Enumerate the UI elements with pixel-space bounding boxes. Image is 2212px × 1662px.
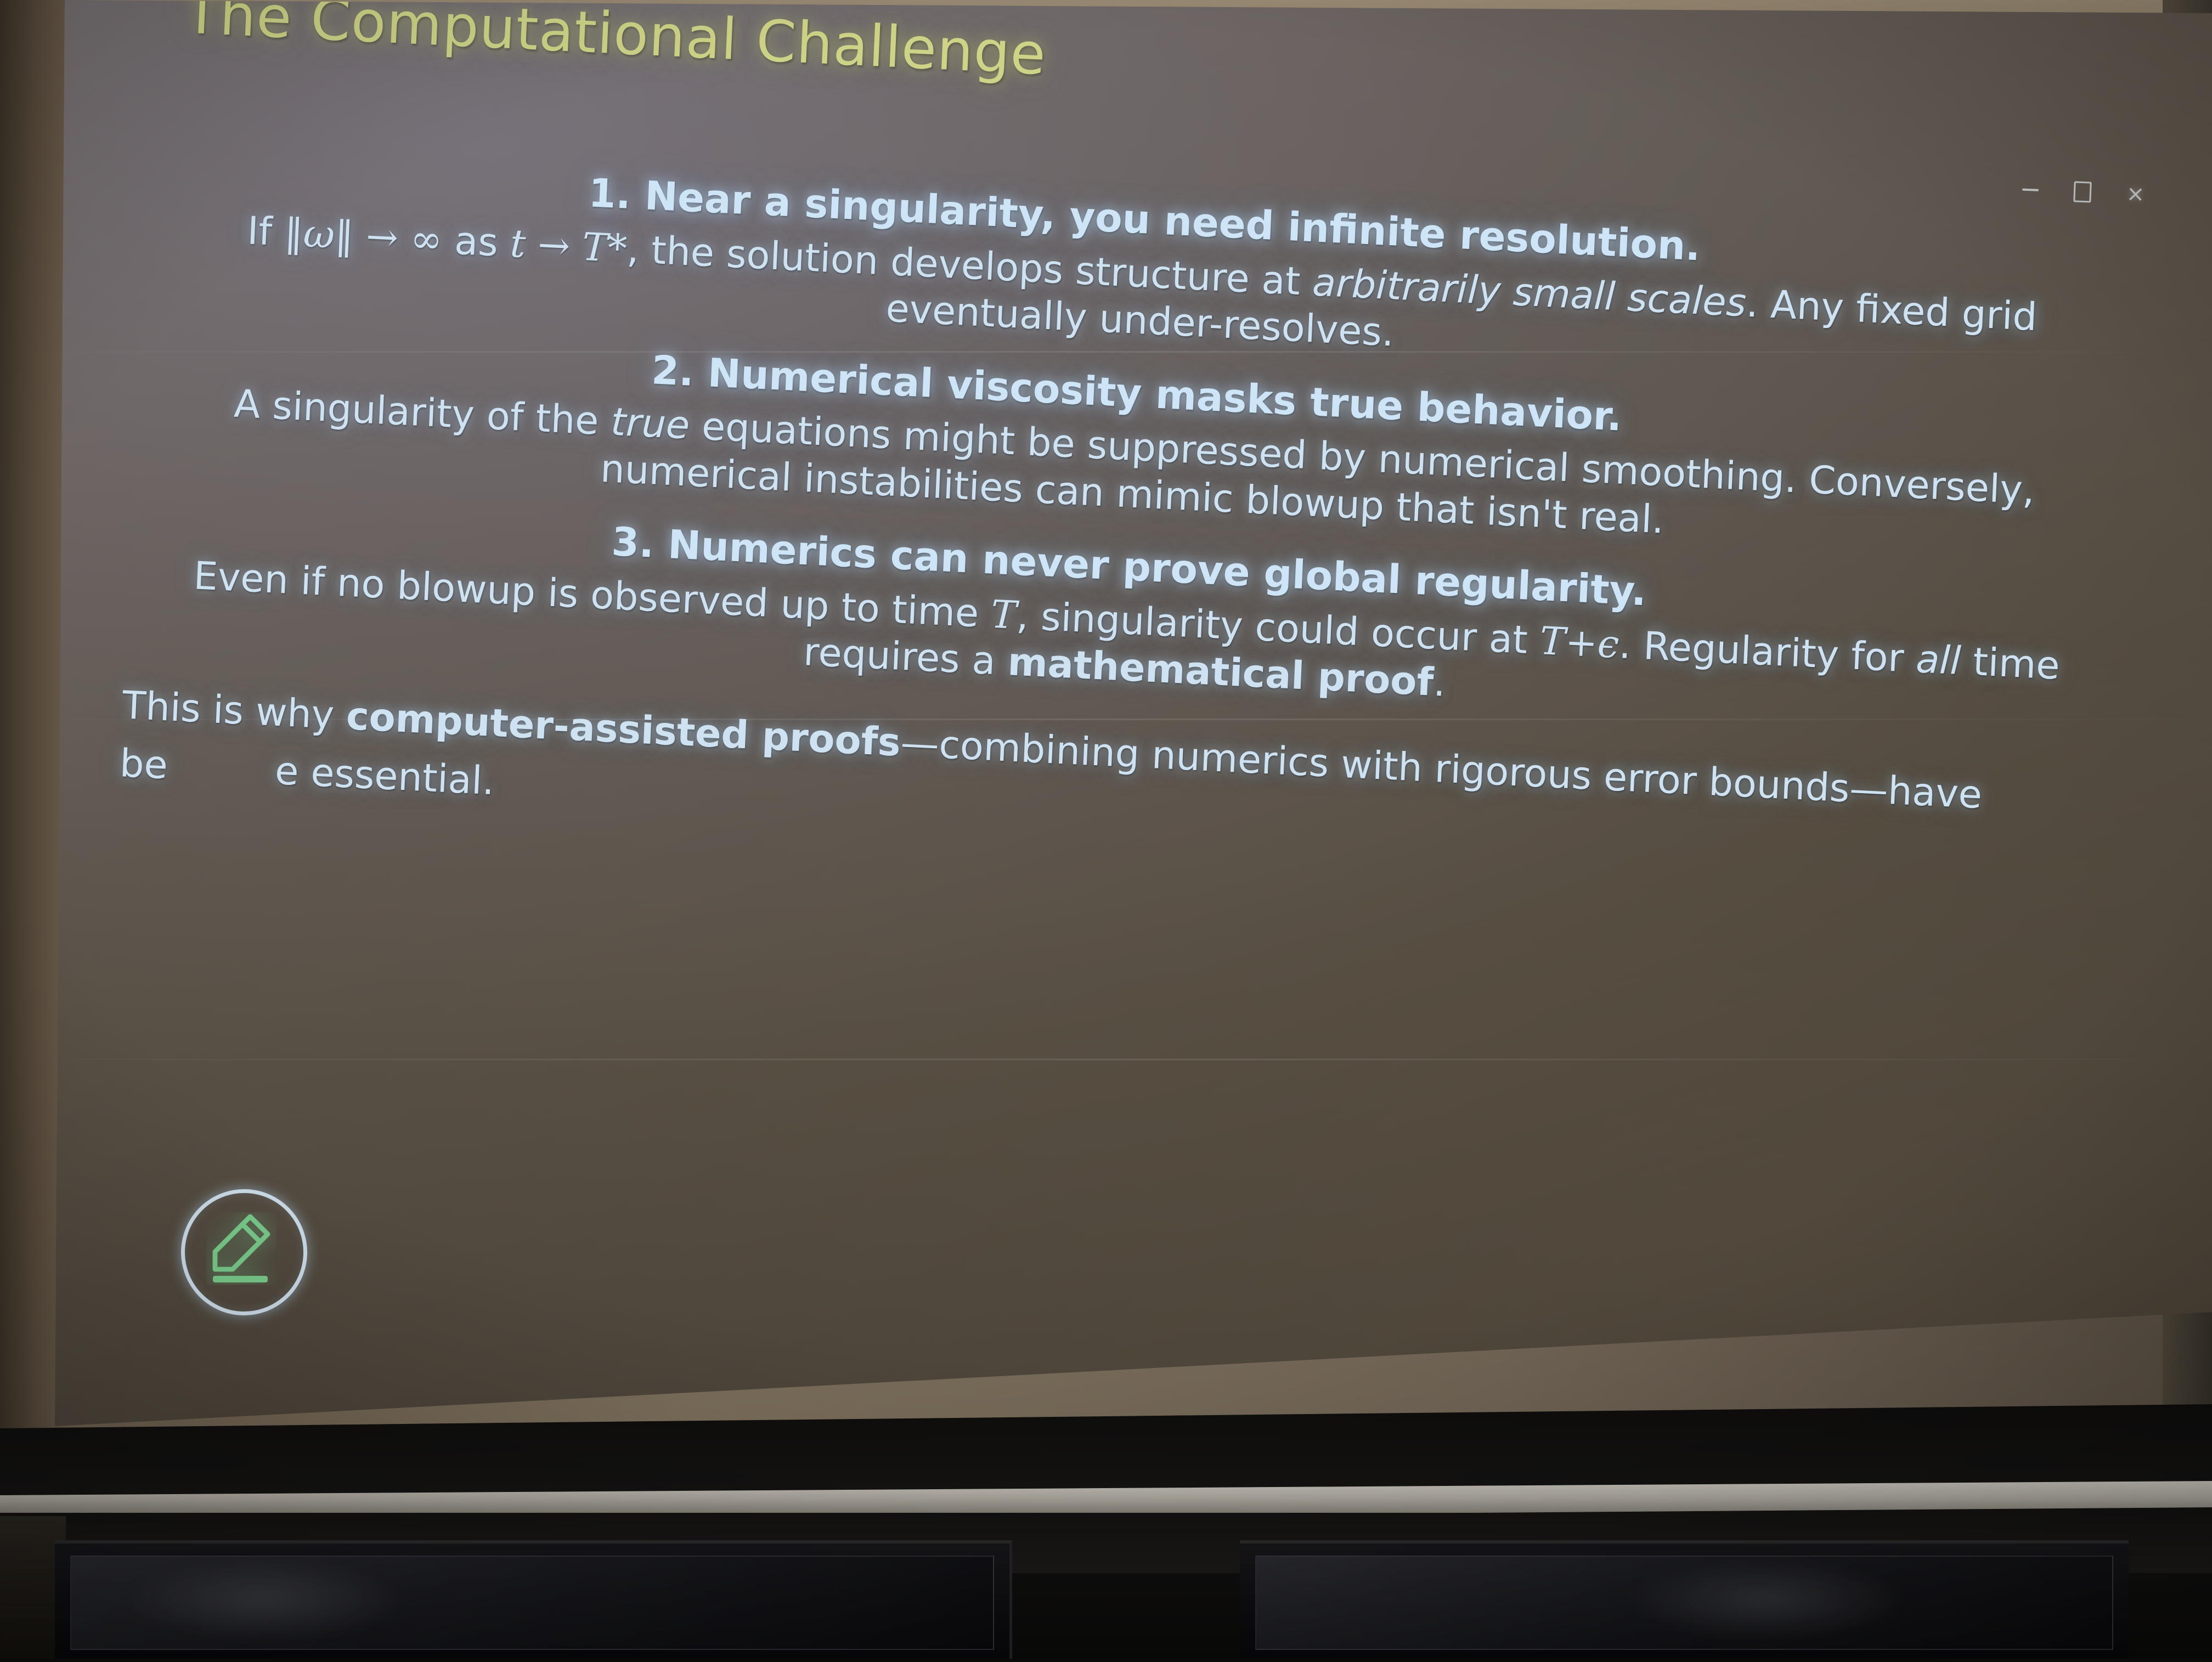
item-1-math-t-to-tstar: t → T* [509, 221, 628, 271]
cabinet-sheen [121, 1559, 406, 1641]
closing-part-0: This is why [121, 682, 347, 738]
slide-body: 1. Near a singularity, you need infinite… [114, 148, 2148, 889]
closing-part-3: be [119, 740, 168, 788]
cabinet-left [55, 1540, 1012, 1659]
minimize-icon[interactable] [2022, 189, 2039, 191]
cabinet-right [1240, 1540, 2129, 1659]
close-icon[interactable]: × [2126, 183, 2146, 205]
closing-part-4: e essential. [274, 748, 495, 804]
slide-title: The Computational Challenge [183, 0, 1048, 88]
item-3-part-4: . Regularity for [1618, 622, 1917, 681]
closing-part-2: —combining numerics with rigorous error … [900, 720, 1983, 817]
item-2-part-0: A singularity of the [233, 381, 612, 444]
item-3-math-t-plus-eps: T+ϵ [1539, 618, 1620, 667]
slide: The Computational Challenge 1. Near a si… [0, 0, 2212, 1437]
pencil-edit-icon [206, 1212, 276, 1285]
closing-strong-computer-assisted-proofs: computer-assisted proofs [346, 693, 902, 765]
item-3-emph-all: all [1915, 636, 1962, 683]
projection-screen: The Computational Challenge 1. Near a si… [0, 0, 2212, 1437]
cabinet-sheen [1624, 1559, 1909, 1641]
item-3-math-t: T [990, 592, 1017, 638]
item-1-part-0: If [246, 208, 285, 255]
item-3-part-8: . [1432, 660, 1447, 705]
item-2-emph-true: true [610, 399, 691, 448]
maximize-icon[interactable] [2074, 181, 2092, 202]
closing-occluded-gap [167, 779, 275, 784]
item-1-math-norm-omega: ‖ω‖ → ∞ [283, 210, 443, 262]
item-1-part-2: as [442, 217, 511, 265]
